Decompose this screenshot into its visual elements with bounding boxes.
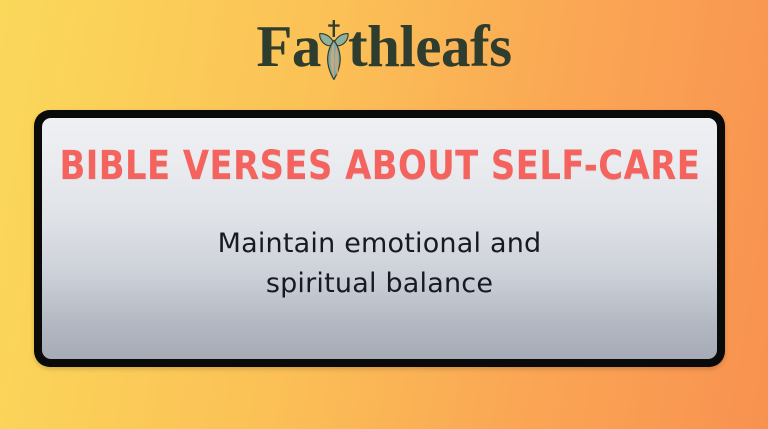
banner-graphic: Fa thleafs BI — [0, 0, 768, 429]
page-subtitle-line-2: spiritual balance — [218, 264, 542, 304]
content-card: BIBLE VERSES ABOUT SELF-CARE Maintain em… — [34, 110, 725, 367]
brand-name-suffix: thleafs — [348, 17, 512, 76]
leaf-cross-icon — [319, 20, 349, 82]
brand-lockup: Fa thleafs — [256, 17, 511, 79]
content-card-surface: BIBLE VERSES ABOUT SELF-CARE Maintain em… — [42, 118, 717, 359]
page-subtitle: Maintain emotional and spiritual balance — [218, 224, 542, 304]
brand-name-prefix: Fa — [256, 17, 321, 76]
brand-logo: Fa thleafs — [0, 4, 768, 92]
page-title: BIBLE VERSES ABOUT SELF-CARE — [59, 146, 700, 186]
page-subtitle-line-1: Maintain emotional and — [218, 224, 542, 264]
